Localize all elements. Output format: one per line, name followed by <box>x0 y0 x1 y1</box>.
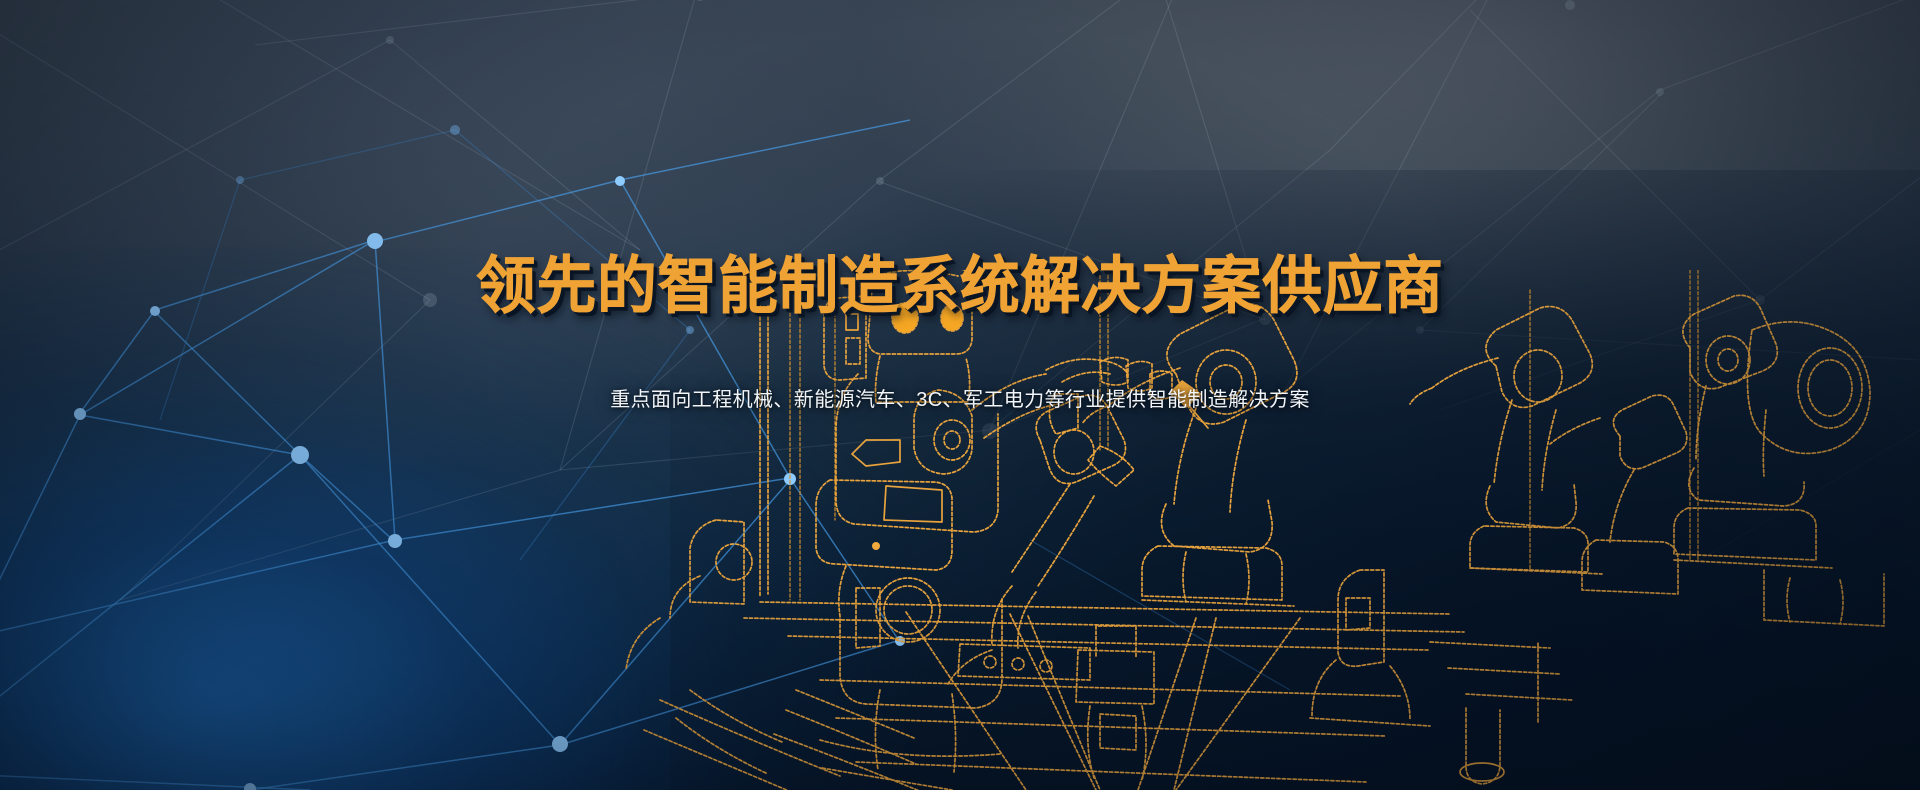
page-subtitle: 重点面向工程机械、新能源汽车、3C、军工电力等行业提供智能制造解决方案 <box>610 383 1310 412</box>
hero-banner: 领先的智能制造系统解决方案供应商 重点面向工程机械、新能源汽车、3C、军工电力等… <box>0 0 1920 790</box>
banner-content: 领先的智能制造系统解决方案供应商 重点面向工程机械、新能源汽车、3C、军工电力等… <box>0 0 1920 790</box>
page-title: 领先的智能制造系统解决方案供应商 <box>476 254 1444 317</box>
